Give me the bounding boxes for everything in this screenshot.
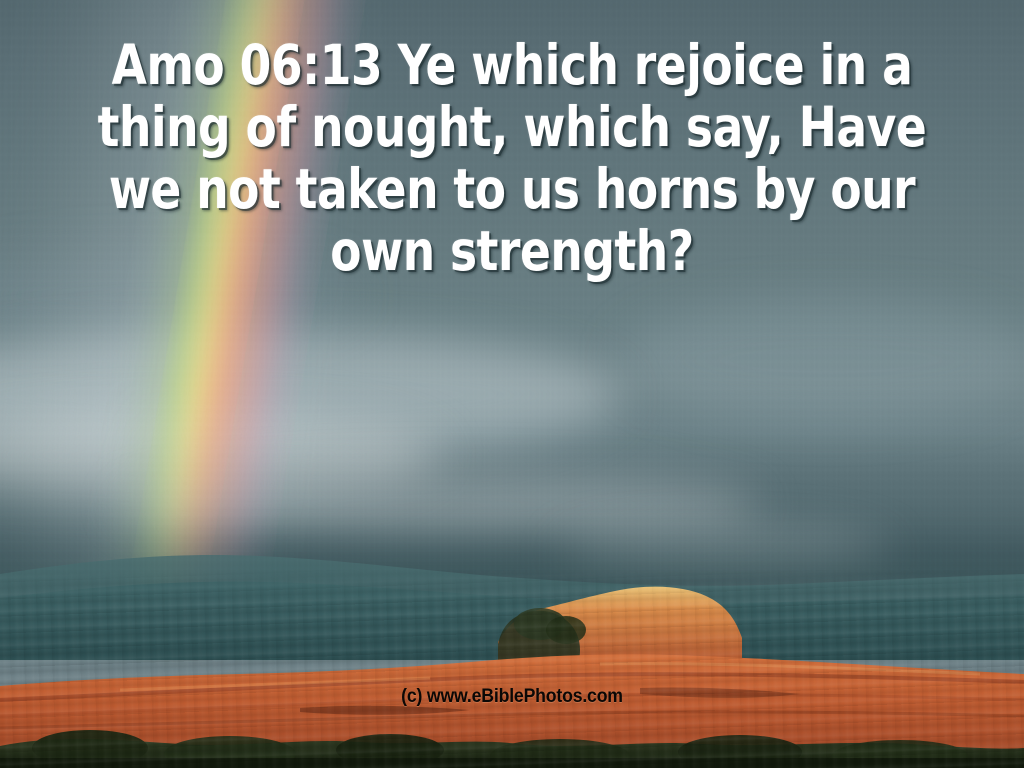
bible-verse-image: Amo 06:13 Ye which rejoice in a thing of… bbox=[0, 0, 1024, 768]
photo-grain-overlay bbox=[0, 0, 1024, 768]
watermark-credit: (c) www.eBiblePhotos.com bbox=[36, 686, 988, 708]
